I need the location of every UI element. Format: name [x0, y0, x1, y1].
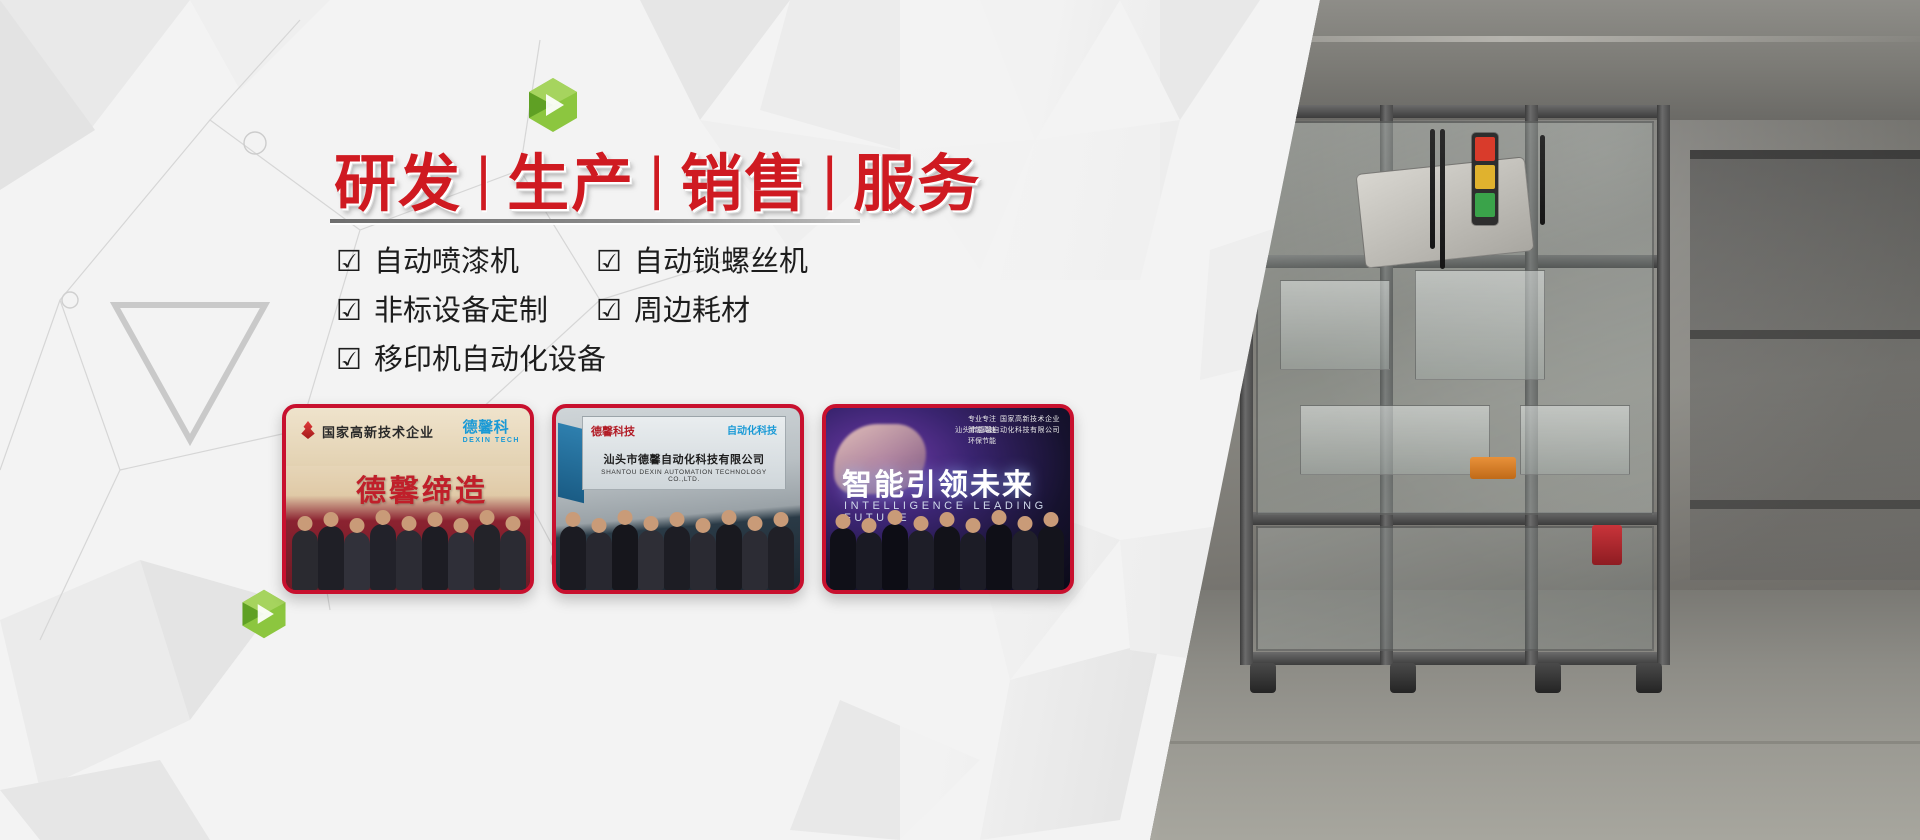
headline-word-3: 销售: [676, 133, 812, 223]
card1-logo-en: DEXIN TECH: [463, 437, 520, 444]
hexagon-decor-bottom: [238, 588, 290, 640]
banner-content: 研发 | 生产 | 销售 | 服务 ☑ 自动喷漆机 ☑ 自动锁螺丝机: [0, 0, 1100, 840]
feature-item: ☑ 周边耗材: [596, 287, 876, 336]
feature-label: 自动喷漆机: [374, 248, 519, 277]
checkbox-icon: ☑: [596, 297, 622, 326]
checkbox-icon: ☑: [336, 248, 362, 277]
feature-label: 非标设备定制: [374, 297, 548, 326]
card3-headline-cn: 智能引领未来: [842, 460, 1034, 504]
card1-logo-cn: 德馨科: [463, 419, 510, 436]
card1-banner-title: 国家高新技术企业: [322, 422, 434, 441]
card2-company-en: SHANTOU DEXIN AUTOMATION TECHNOLOGY CO.,…: [591, 469, 777, 483]
card3-tag-4: 国家高新技术企业: [955, 414, 1060, 425]
headline: 研发 | 生产 | 销售 | 服务: [330, 133, 985, 223]
feature-item: ☑ 自动喷漆机: [336, 238, 596, 287]
card3-tags-right: 国家高新技术企业 汕头市德馨自动化科技有限公司: [955, 414, 1060, 436]
card3-tag-5: 汕头市德馨自动化科技有限公司: [955, 425, 1060, 436]
card-company-signboard[interactable]: 德馨科技 自动化科技 汕头市德馨自动化科技有限公司 SHANTOU DEXIN …: [552, 404, 804, 594]
divider-rule: [330, 219, 860, 223]
card3-tag-3: 环保节能: [968, 436, 996, 447]
card2-logo-cn: 德馨科技: [591, 423, 635, 439]
checkbox-icon: ☑: [596, 248, 622, 277]
photo-card-group: 国家高新技术企业 德馨科 DEXIN TECH 德馨缔造: [282, 404, 1074, 594]
promo-banner: 研发 | 生产 | 销售 | 服务 ☑ 自动喷漆机 ☑ 自动锁螺丝机: [0, 0, 1920, 840]
headline-separator-3: |: [812, 145, 849, 212]
headline-separator-2: |: [639, 145, 676, 212]
card3-people-group: [826, 504, 1070, 590]
card1-people-group: [286, 502, 530, 590]
feature-item: ☑ 非标设备定制: [336, 287, 596, 336]
automation-machine: [1240, 105, 1670, 665]
hexagon-decor-top: [524, 76, 582, 134]
headline-word-2: 生产: [503, 133, 639, 223]
card-national-hi-tech[interactable]: 国家高新技术企业 德馨科 DEXIN TECH 德馨缔造: [282, 404, 534, 594]
feature-list: ☑ 自动喷漆机 ☑ 自动锁螺丝机 ☑ 非标设备定制 ☑ 周边耗材: [336, 238, 896, 385]
feature-item: ☑ 移印机自动化设备: [336, 336, 606, 385]
headline-word-1: 研发: [330, 133, 466, 223]
card-intelligent-future[interactable]: 专业专注 智能高速 环保节能 国家高新技术企业 汕头市德馨自动化科技有限公司 智…: [822, 404, 1074, 594]
card2-logo-partner: 自动化科技: [727, 422, 777, 437]
feature-label: 移印机自动化设备: [374, 346, 606, 375]
card1-logo: 德馨科 DEXIN TECH: [463, 416, 520, 444]
feature-item: ☑ 自动锁螺丝机: [596, 238, 876, 287]
headline-separator-1: |: [466, 145, 503, 212]
checkbox-icon: ☑: [336, 346, 362, 375]
card2-company-cn: 汕头市德馨自动化科技有限公司: [591, 451, 777, 467]
feature-label: 自动锁螺丝机: [634, 248, 808, 277]
headline-word-4: 服务: [849, 133, 985, 223]
card2-people-group: [556, 504, 800, 590]
checkbox-icon: ☑: [336, 297, 362, 326]
feature-label: 周边耗材: [634, 297, 750, 326]
